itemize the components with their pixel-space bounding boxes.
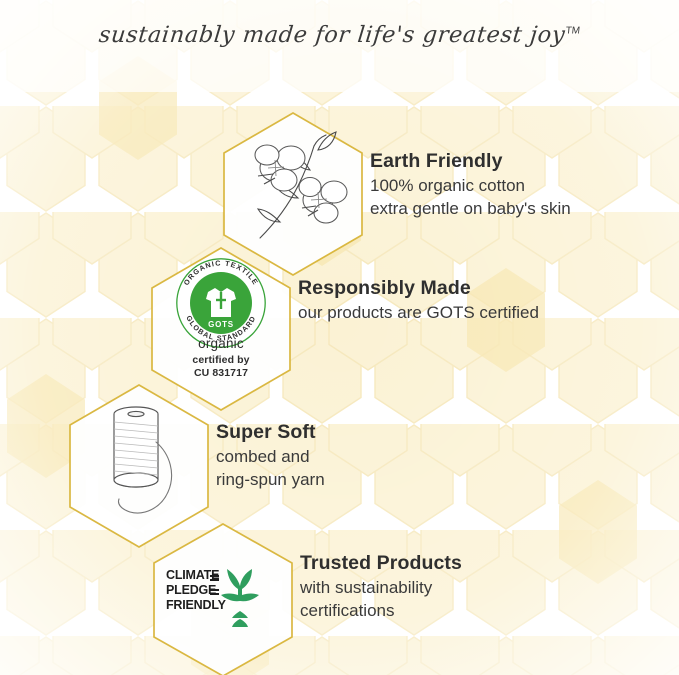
page-title: sustainably made for life's greatest joy…: [0, 22, 679, 48]
gots-organic-label: organic: [141, 336, 301, 351]
feature-desc-line: combed and: [216, 446, 325, 468]
feature-desc-line: our products are GOTS certified: [298, 302, 539, 324]
feature-desc-line: with sustainability: [300, 577, 462, 599]
feature-text-block: Earth Friendly 100% organic cotton extra…: [370, 150, 571, 220]
climate-pledge-line-2: PLEDGE: [166, 583, 226, 598]
feature-desc-line: certifications: [300, 600, 462, 622]
feature-desc-line: 100% organic cotton: [370, 175, 571, 197]
feature-text-block: Trusted Products with sustainability cer…: [300, 552, 462, 622]
feature-text-block: Super Soft combed and ring-spun yarn: [216, 421, 325, 491]
gots-certificate-number: CU 831717: [194, 367, 248, 379]
promotional-image: sustainably made for life's greatest joy…: [0, 0, 679, 675]
trademark-symbol: TM: [565, 26, 581, 37]
gots-badge-caption: organic certified by CU 831717: [141, 336, 301, 380]
feature-title: Responsibly Made: [298, 277, 539, 299]
svg-text:GOTS: GOTS: [208, 320, 234, 329]
feature-desc-line: ring-spun yarn: [216, 469, 325, 491]
climate-pledge-line-3: FRIENDLY: [166, 598, 226, 613]
gots-certified-by-label: certified by: [192, 354, 249, 366]
feature-title: Super Soft: [216, 421, 325, 443]
headline-text: sustainably made for life's greatest joy: [98, 22, 567, 48]
feature-desc-line: extra gentle on baby's skin: [370, 198, 571, 220]
feature-text-block: Responsibly Made our products are GOTS c…: [298, 277, 539, 325]
feature-title: Earth Friendly: [370, 150, 571, 172]
climate-pledge-wordmark: CLIMATE PLEDGE FRIENDLY: [166, 568, 226, 612]
feature-title: Trusted Products: [300, 552, 462, 574]
climate-pledge-line-1: CLIMATE: [166, 568, 226, 583]
